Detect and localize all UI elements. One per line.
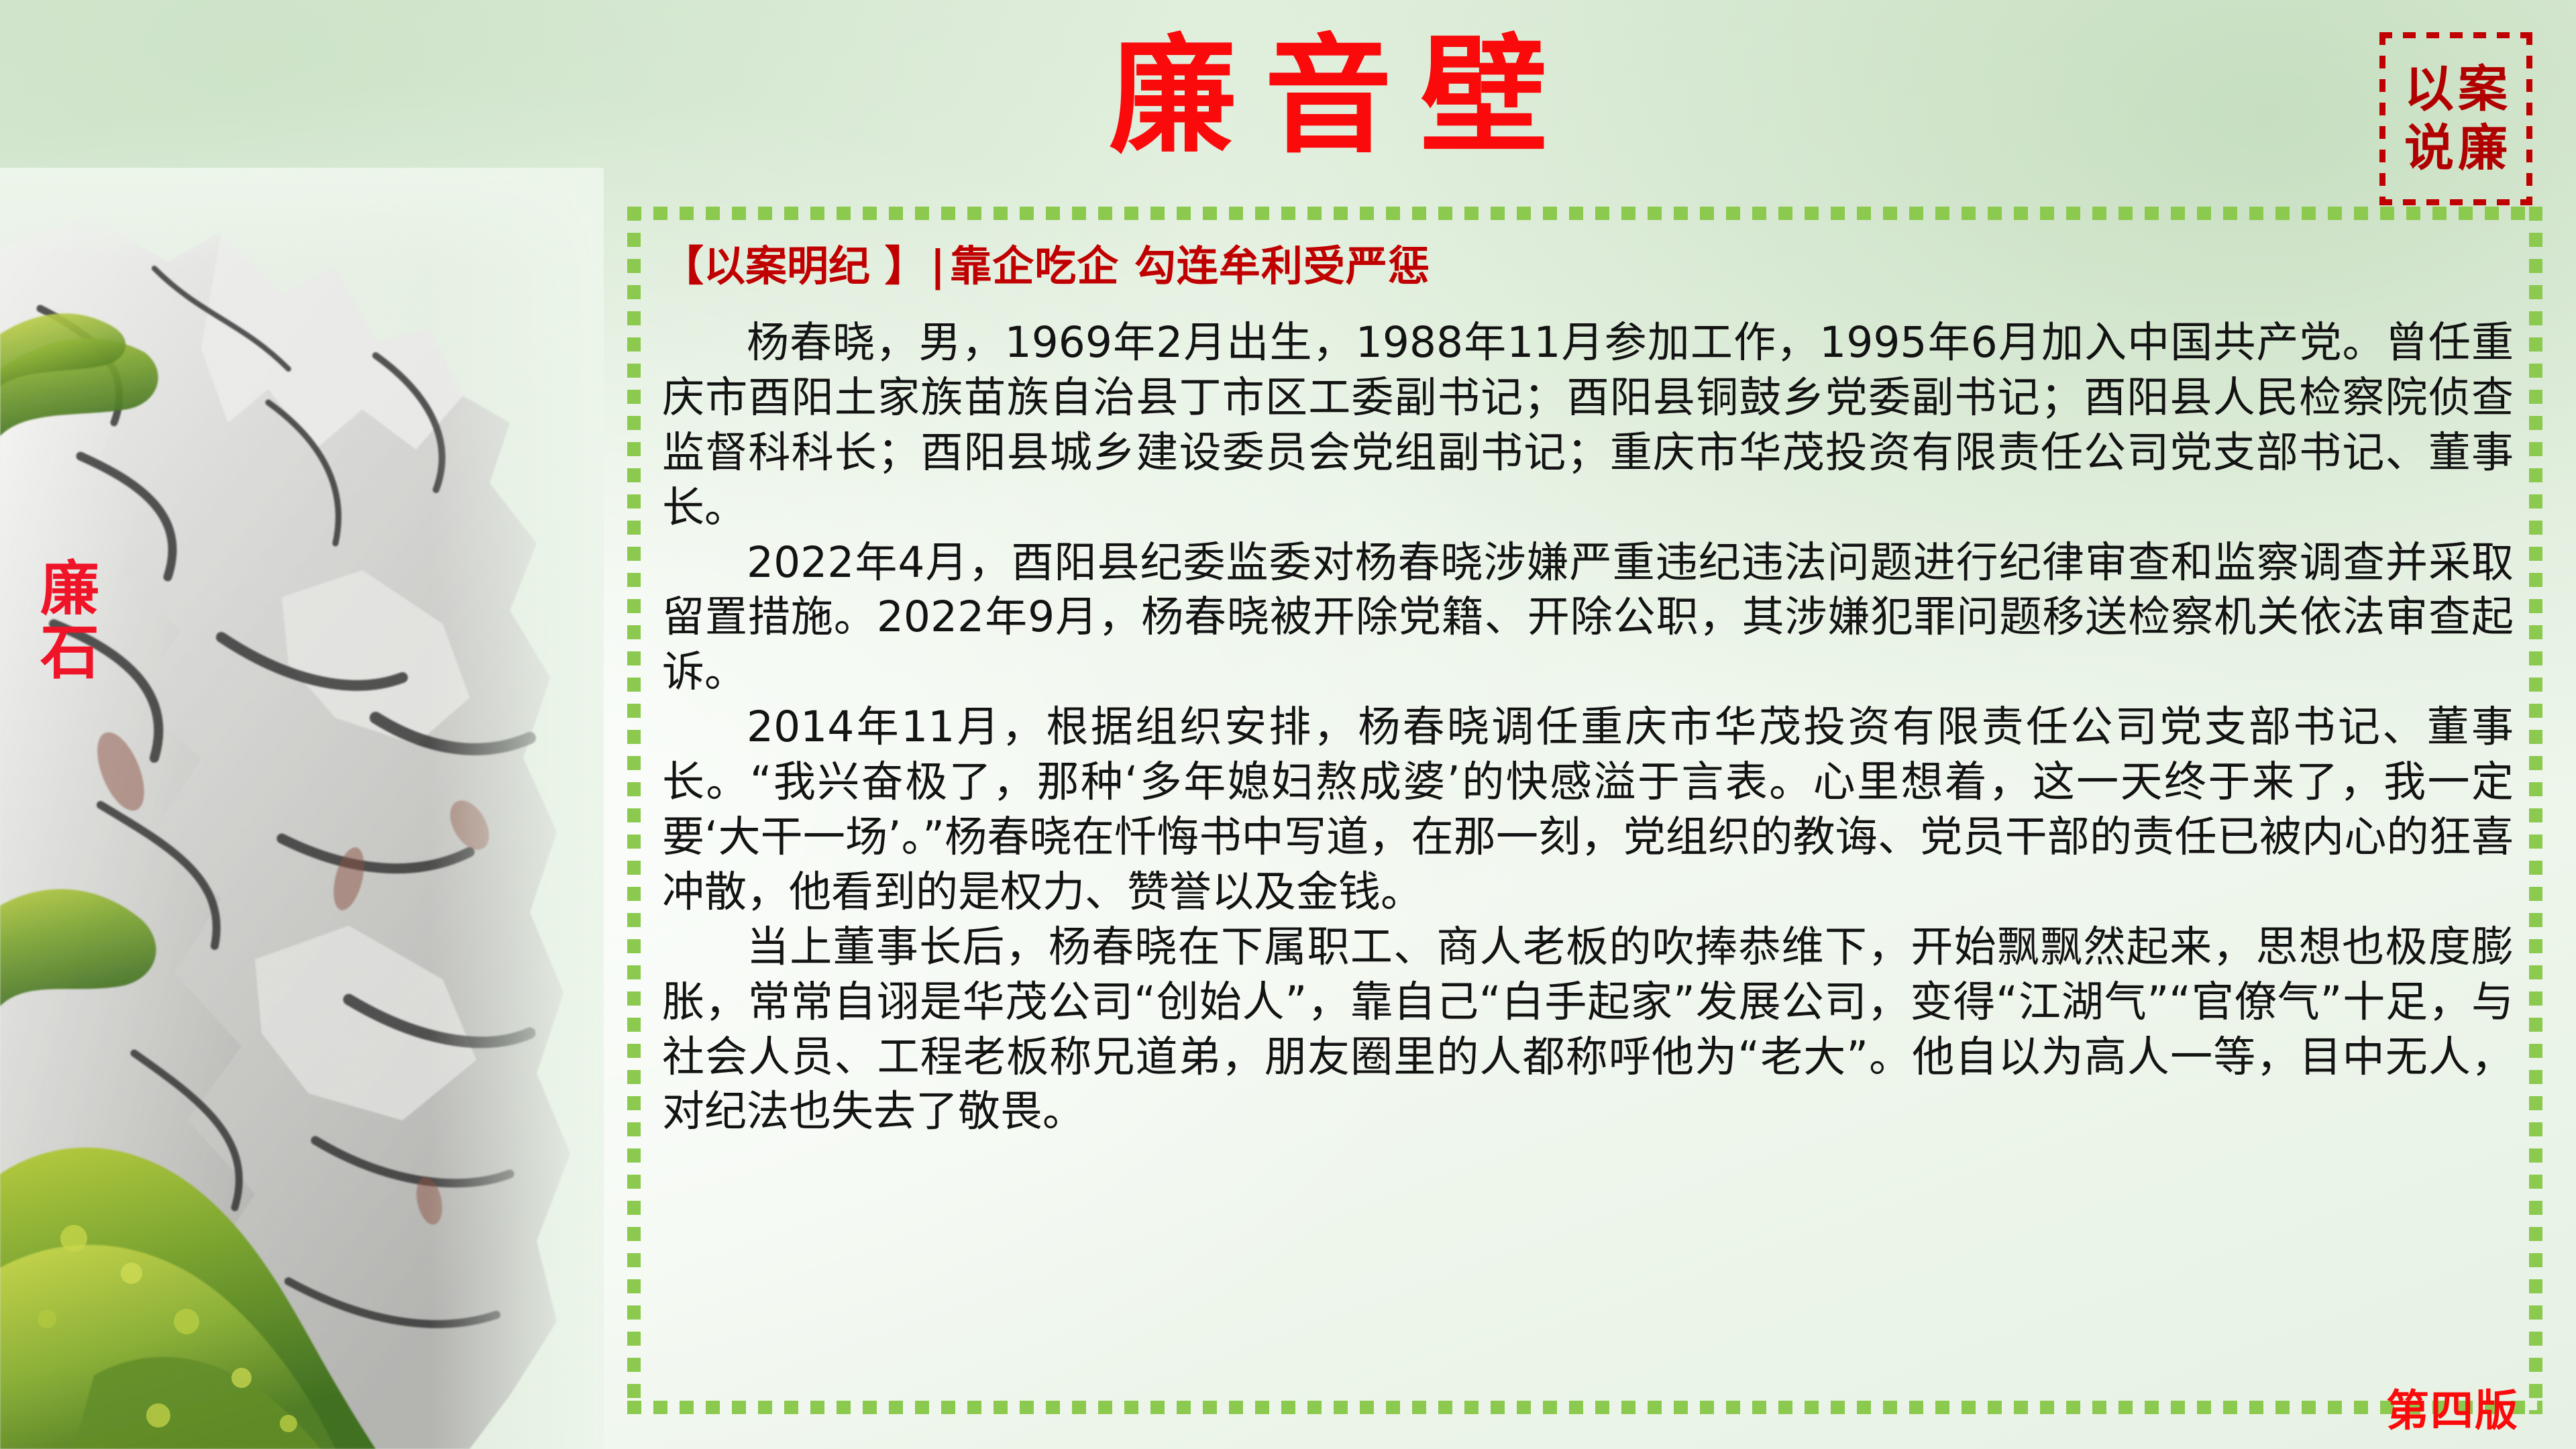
article-body: 杨春晓，男，1969年2月出生，1988年11月参加工作，1995年6月加入中国…	[662, 315, 2514, 1139]
rock-illustration	[0, 168, 604, 1449]
page-title: 廉音壁	[1073, 32, 1583, 160]
case-badge-text: 以案 说廉	[2379, 32, 2532, 205]
case-badge-line-1: 以案	[2400, 64, 2512, 114]
article-paragraph: 2022年4月，酉阳县纪委监委对杨春晓涉嫌严重违纪违法问题进行纪律审查和监察调查…	[662, 535, 2514, 700]
article-paragraph: 当上董事长后，杨春晓在下属职工、商人老板的吹捧恭维下，开始飘飘然起来，思想也极度…	[662, 920, 2514, 1140]
rock-photo	[0, 168, 604, 1449]
case-badge: 以案 说廉	[2379, 32, 2532, 205]
headline-text: 靠企吃企 勾连牟利受严惩	[950, 241, 1430, 290]
headline-separator: |	[926, 241, 951, 290]
article-headline: 【以案明纪 】|靠企吃企 勾连牟利受严惩	[662, 246, 2514, 287]
page-number-badge: 第四版	[2386, 1390, 2519, 1433]
rock-label-line-2: 石	[40, 621, 127, 684]
case-badge-line-2: 说廉	[2400, 123, 2512, 173]
poster-page: 廉 石 廉音壁 以案 说廉 【以案明纪 】|靠企吃企 勾连牟利受严惩 杨春晓，男…	[0, 0, 2576, 1449]
article-container: 【以案明纪 】|靠企吃企 勾连牟利受严惩 杨春晓，男，1969年2月出生，198…	[627, 207, 2542, 1414]
article-paragraph: 2014年11月，根据组织安排，杨春晓调任重庆市华茂投资有限责任公司党支部书记、…	[662, 700, 2514, 920]
headline-bracket: 【以案明纪 】	[662, 241, 926, 290]
rock-label: 廉 石	[40, 557, 127, 684]
article-inner: 【以案明纪 】|靠企吃企 勾连牟利受严惩 杨春晓，男，1969年2月出生，198…	[662, 246, 2514, 1386]
article-paragraph: 杨春晓，男，1969年2月出生，1988年11月参加工作，1995年6月加入中国…	[662, 315, 2514, 535]
rock-label-line-1: 廉	[40, 557, 127, 621]
